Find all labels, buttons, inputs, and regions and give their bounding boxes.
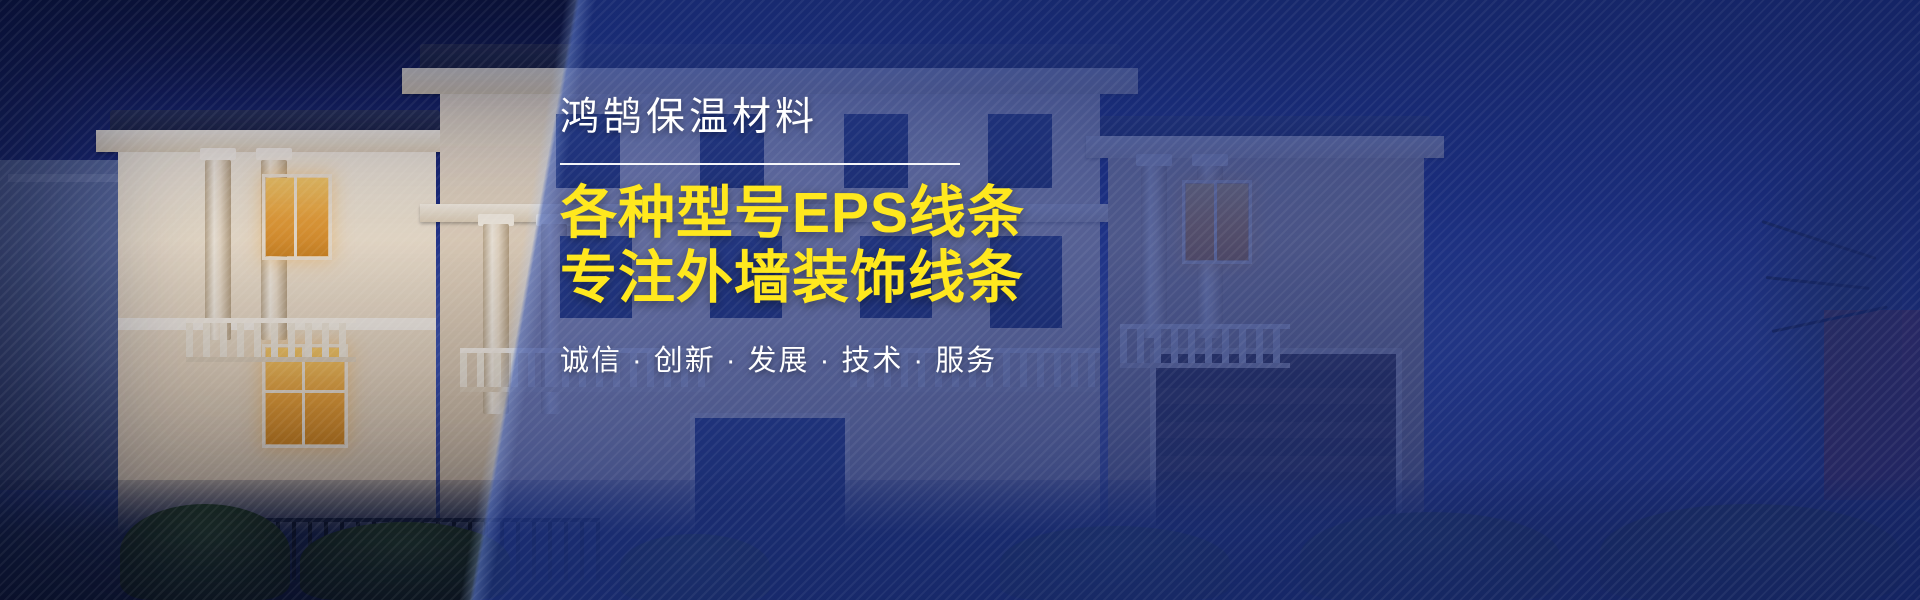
headline-line-1: 各种型号EPS线条 xyxy=(560,183,1320,244)
headline-line-2: 专注外墙装饰线条 xyxy=(560,248,1320,309)
brand-subtitle: 鸿鹄保温材料 xyxy=(560,96,1320,141)
banner-text-block: 鸿鹄保温材料 各种型号EPS线条 专注外墙装饰线条 诚信 · 创新 · 发展 ·… xyxy=(560,96,1320,379)
divider-rule xyxy=(560,163,960,165)
promo-banner: 鸿鹄保温材料 各种型号EPS线条 专注外墙装饰线条 诚信 · 创新 · 发展 ·… xyxy=(0,0,1920,600)
values-tagline: 诚信 · 创新 · 发展 · 技术 · 服务 xyxy=(560,337,1320,379)
